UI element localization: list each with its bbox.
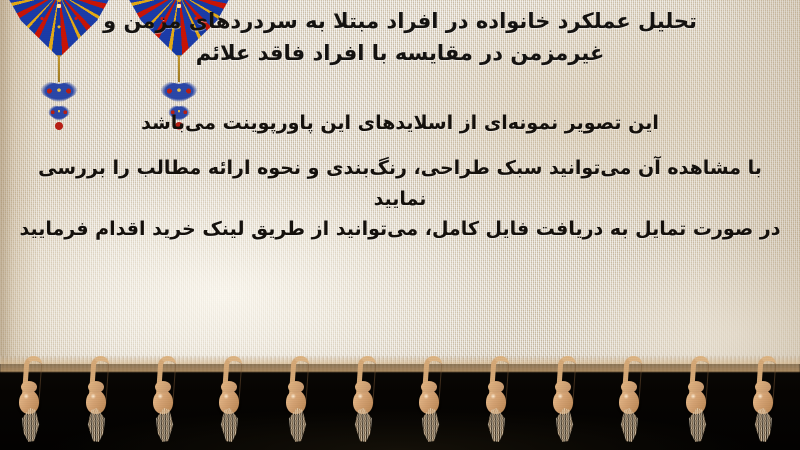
tassel-brush xyxy=(683,407,710,443)
slide-body-line-1: این تصویر نمونه‌ای از اسلایدهای این پاور… xyxy=(18,108,782,139)
fringe-tassel xyxy=(147,354,187,444)
tassel-brush xyxy=(350,407,378,444)
tassel-brush xyxy=(283,407,310,443)
slide-body-line-3: در صورت تمایل به دریافت فایل کامل، می‌تو… xyxy=(18,214,782,245)
tassel-brush xyxy=(417,407,444,443)
slide-title-line-2: غیرمزمن در مقایسه با افراد فاقد علائم xyxy=(18,38,782,70)
slide-body: این تصویر نمونه‌ای از اسلایدهای این پاور… xyxy=(18,108,782,245)
carpet-fringe xyxy=(0,354,800,450)
fringe-tassel xyxy=(613,354,653,444)
tassel-brush xyxy=(483,407,511,444)
fringe-tassel xyxy=(280,354,320,444)
fringe-tassel xyxy=(13,354,53,444)
fringe-tassel xyxy=(413,354,453,444)
tassel-brush xyxy=(216,407,244,444)
tassel-brush xyxy=(750,407,778,444)
fringe-tassel xyxy=(680,354,720,444)
slide-canvas: تحلیل عملکرد خانواده در افراد مبتلا به س… xyxy=(0,0,800,450)
tassel-brush xyxy=(616,407,644,444)
fringe-tassel xyxy=(213,354,253,444)
fringe-tassel xyxy=(480,354,520,444)
slide-text-layer: تحلیل عملکرد خانواده در افراد مبتلا به س… xyxy=(0,0,800,370)
tassel-brush xyxy=(150,407,177,443)
slide-title: تحلیل عملکرد خانواده در افراد مبتلا به س… xyxy=(18,6,782,69)
fringe-tassel xyxy=(747,354,787,444)
tassel-brush xyxy=(550,407,577,443)
fringe-tassel xyxy=(80,354,120,444)
fringe-tassel xyxy=(547,354,587,444)
tassel-brush xyxy=(83,407,111,444)
slide-title-line-1: تحلیل عملکرد خانواده در افراد مبتلا به س… xyxy=(18,6,782,38)
slide-body-line-2: با مشاهده آن می‌توانید سبک طراحی، رنگ‌بن… xyxy=(18,153,782,215)
fringe-tassel xyxy=(347,354,387,444)
tassel-brush xyxy=(17,407,44,443)
